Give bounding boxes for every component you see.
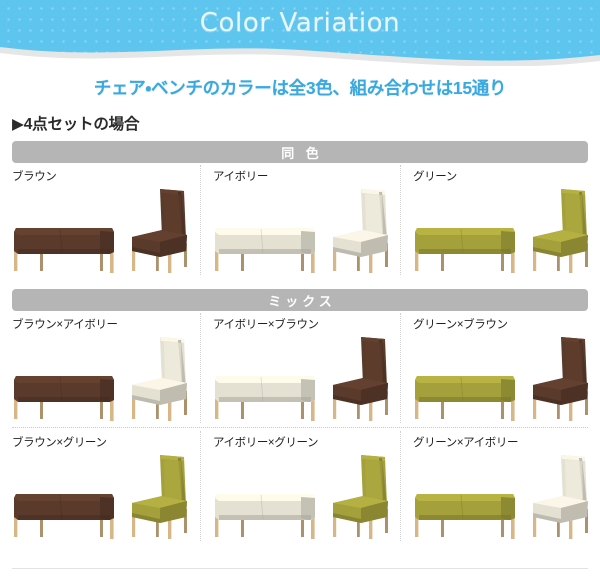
variation-row: ブラウン×アイボリー [0, 313, 600, 423]
variation-row: ブラウン×グリーン [0, 431, 600, 541]
variation-cell[interactable]: アイボリー×ブラウン [200, 313, 400, 423]
variation-label: ブラウン [12, 168, 56, 184]
furniture-illustration [0, 451, 200, 539]
footer-divider [12, 568, 588, 569]
variation-label: グリーン [413, 168, 457, 184]
set-heading: ▶4点セットの場合 [12, 112, 600, 134]
variation-cell[interactable]: グリーン×ブラウン [400, 313, 600, 423]
furniture-illustration [0, 185, 200, 273]
furniture-illustration [401, 333, 600, 421]
variation-row: ブラウン [0, 165, 600, 275]
variation-cell[interactable]: ブラウン [0, 165, 200, 275]
header-wave-divider [0, 41, 600, 66]
variation-label: ブラウン×アイボリー [12, 316, 118, 332]
furniture-illustration [201, 185, 401, 273]
furniture-illustration [0, 333, 200, 421]
page-title: Color Variation [0, 8, 600, 38]
section-bar-same-color: 同 色 [12, 141, 588, 163]
variation-cell[interactable]: ブラウン×グリーン [0, 431, 200, 541]
section-bar-mix: ミックス [12, 289, 588, 311]
variation-label: ブラウン×グリーン [12, 434, 107, 450]
variation-label: アイボリー×グリーン [213, 434, 318, 450]
variation-cell[interactable]: グリーン×アイボリー [400, 431, 600, 541]
variation-cell[interactable]: ブラウン×アイボリー [0, 313, 200, 423]
variation-cell[interactable]: アイボリー×グリーン [200, 431, 400, 541]
furniture-illustration [401, 451, 600, 539]
variation-label: グリーン×ブラウン [413, 316, 508, 332]
variation-cell[interactable]: グリーン [400, 165, 600, 275]
furniture-illustration [201, 333, 401, 421]
variation-label: グリーン×アイボリー [413, 434, 518, 450]
variation-label: アイボリー×ブラウン [213, 316, 319, 332]
furniture-illustration [201, 451, 401, 539]
furniture-illustration [401, 185, 600, 273]
variation-label: アイボリー [213, 168, 268, 184]
variation-cell[interactable]: アイボリー [200, 165, 400, 275]
subtitle: チェア・ベンチのカラーは全3色、組み合わせは15通り [0, 75, 600, 100]
page-header: Color Variation [0, 0, 600, 66]
